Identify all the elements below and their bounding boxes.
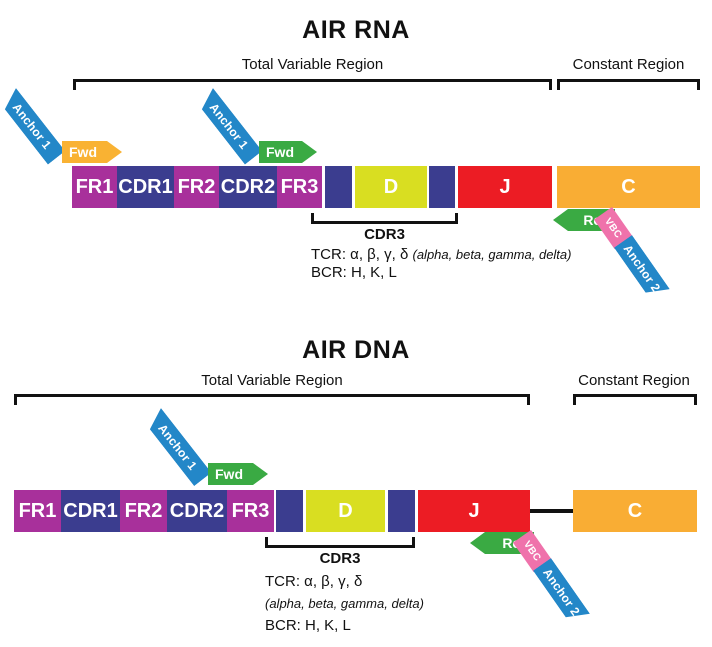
segment-fr2: FR2: [174, 166, 219, 208]
label-cdr3-rna: CDR3: [311, 226, 458, 243]
segment-label: FR1: [19, 501, 57, 521]
bracket-total-variable-region-rna: [73, 79, 552, 93]
anchor-1-primer-rna-a: Anchor 1: [0, 88, 65, 165]
label-constant-region-rna: Constant Region: [557, 56, 700, 73]
segment-label: C: [621, 177, 635, 197]
fwd-primer-rna-a: Fwd: [62, 141, 122, 163]
bracket-leg-right: [455, 213, 458, 224]
caption-bcr-rna: BCR: H, K, L: [311, 264, 397, 281]
bracket-cdr3-dna: [265, 534, 415, 548]
bracket-bar: [557, 79, 700, 82]
label-constant-region-dna: Constant Region: [567, 372, 701, 389]
segment-c: C: [573, 490, 697, 532]
caption-tcr-text: TCR: α, β, γ, δ: [311, 246, 408, 263]
bracket-leg-left: [557, 79, 560, 90]
bracket-leg-right: [549, 79, 552, 90]
segment-label: CDR2: [221, 177, 275, 197]
segment-cdr2: CDR2: [219, 166, 277, 208]
label-total-variable-region-rna: Total Variable Region: [73, 56, 552, 73]
anchor-2-primer-dna: Anchor 2: [533, 558, 590, 626]
anchor-1-label: Anchor 1: [155, 421, 200, 473]
segment-fr1: FR1: [14, 490, 61, 532]
anchor-1-label: Anchor 1: [207, 101, 252, 153]
segment-d: D: [306, 490, 385, 532]
segment-d: D: [355, 166, 427, 208]
bracket-bar: [73, 79, 552, 82]
label-cdr3-dna: CDR3: [265, 550, 415, 567]
panel-air-rna: AIR RNA Total Variable Region Constant R…: [0, 0, 712, 320]
bracket-total-variable-region-dna: [14, 394, 530, 408]
segment-label: CDR1: [118, 177, 172, 197]
bracket-leg-left: [311, 213, 314, 224]
bracket-constant-region-dna: [573, 394, 697, 408]
bracket-bar: [265, 545, 415, 548]
segment-label: C: [628, 501, 642, 521]
bracket-leg-left: [73, 79, 76, 90]
segment-c: C: [557, 166, 700, 208]
caption-tcr-expanded-dna: (alpha, beta, gamma, delta): [265, 596, 424, 611]
vbc-label: VBC: [602, 216, 624, 240]
page-title-air-rna: AIR RNA: [0, 16, 712, 45]
bracket-bar: [14, 394, 530, 397]
bracket-leg-left: [14, 394, 17, 405]
segment-n-region-left: [325, 166, 352, 208]
segment-label: CDR1: [63, 501, 117, 521]
bracket-constant-region-rna: [557, 79, 700, 93]
segment-j: J: [418, 490, 530, 532]
segment-label: FR1: [76, 177, 114, 197]
fwd-primer-dna: Fwd: [208, 463, 268, 485]
segment-fr3: FR3: [227, 490, 274, 532]
gene-segment-row-dna: FR1 CDR1 FR2 CDR2 FR3 D J C: [0, 490, 712, 532]
bracket-leg-right: [527, 394, 530, 405]
fwd-label: Fwd: [266, 144, 294, 160]
segment-label: FR2: [125, 501, 163, 521]
caption-tcr-rna: TCR: α, β, γ, δ (alpha, beta, gamma, del…: [311, 246, 571, 263]
segment-fr1: FR1: [72, 166, 117, 208]
bracket-cdr3-rna: [311, 210, 458, 224]
anchor-1-primer-dna: Anchor 1: [144, 408, 212, 486]
caption-tcr-dna: TCR: α, β, γ, δ: [265, 573, 362, 590]
segment-label: FR2: [178, 177, 216, 197]
segment-label: FR3: [232, 501, 270, 521]
segment-n-region-right: [429, 166, 455, 208]
segment-cdr1: CDR1: [117, 166, 174, 208]
bracket-leg-left: [265, 537, 268, 548]
segment-label: J: [499, 177, 510, 197]
bracket-bar: [573, 394, 697, 397]
fwd-label: Fwd: [69, 144, 97, 160]
segment-j: J: [458, 166, 552, 208]
segment-label: D: [384, 177, 398, 197]
bracket-leg-right: [694, 394, 697, 405]
anchor-1-primer-rna-b: Anchor 1: [196, 88, 263, 165]
bracket-leg-right: [697, 79, 700, 90]
caption-tcr-expanded: (alpha, beta, gamma, delta): [413, 247, 572, 262]
anchor-2-primer-rna: Anchor 2: [614, 235, 670, 302]
anchor-1-label: Anchor 1: [10, 101, 55, 153]
segment-label: D: [338, 501, 352, 521]
fwd-primer-rna-b: Fwd: [259, 141, 317, 163]
segment-label: FR3: [281, 177, 319, 197]
panel-air-dna: AIR DNA Total Variable Region Constant R…: [0, 320, 712, 647]
fwd-label: Fwd: [215, 466, 243, 482]
bracket-leg-right: [412, 537, 415, 548]
segment-cdr2: CDR2: [167, 490, 227, 532]
segment-label: CDR2: [170, 501, 224, 521]
segment-label: J: [468, 501, 479, 521]
gene-segment-row-rna: FR1 CDR1 FR2 CDR2 FR3 D J C: [0, 166, 712, 208]
label-total-variable-region-dna: Total Variable Region: [14, 372, 530, 389]
segment-fr3: FR3: [277, 166, 322, 208]
anchor-2-label: Anchor 2: [621, 242, 664, 295]
anchor-2-label: Anchor 2: [540, 566, 583, 619]
segment-n-region-left: [276, 490, 303, 532]
page-title-air-dna: AIR DNA: [0, 336, 712, 365]
bracket-leg-left: [573, 394, 576, 405]
caption-bcr-dna: BCR: H, K, L: [265, 617, 351, 634]
segment-cdr1: CDR1: [61, 490, 120, 532]
intron-linker-line: [530, 509, 573, 513]
segment-n-region-right: [388, 490, 415, 532]
segment-fr2: FR2: [120, 490, 167, 532]
bracket-bar: [311, 221, 458, 224]
vbc-label: VBC: [521, 539, 543, 563]
